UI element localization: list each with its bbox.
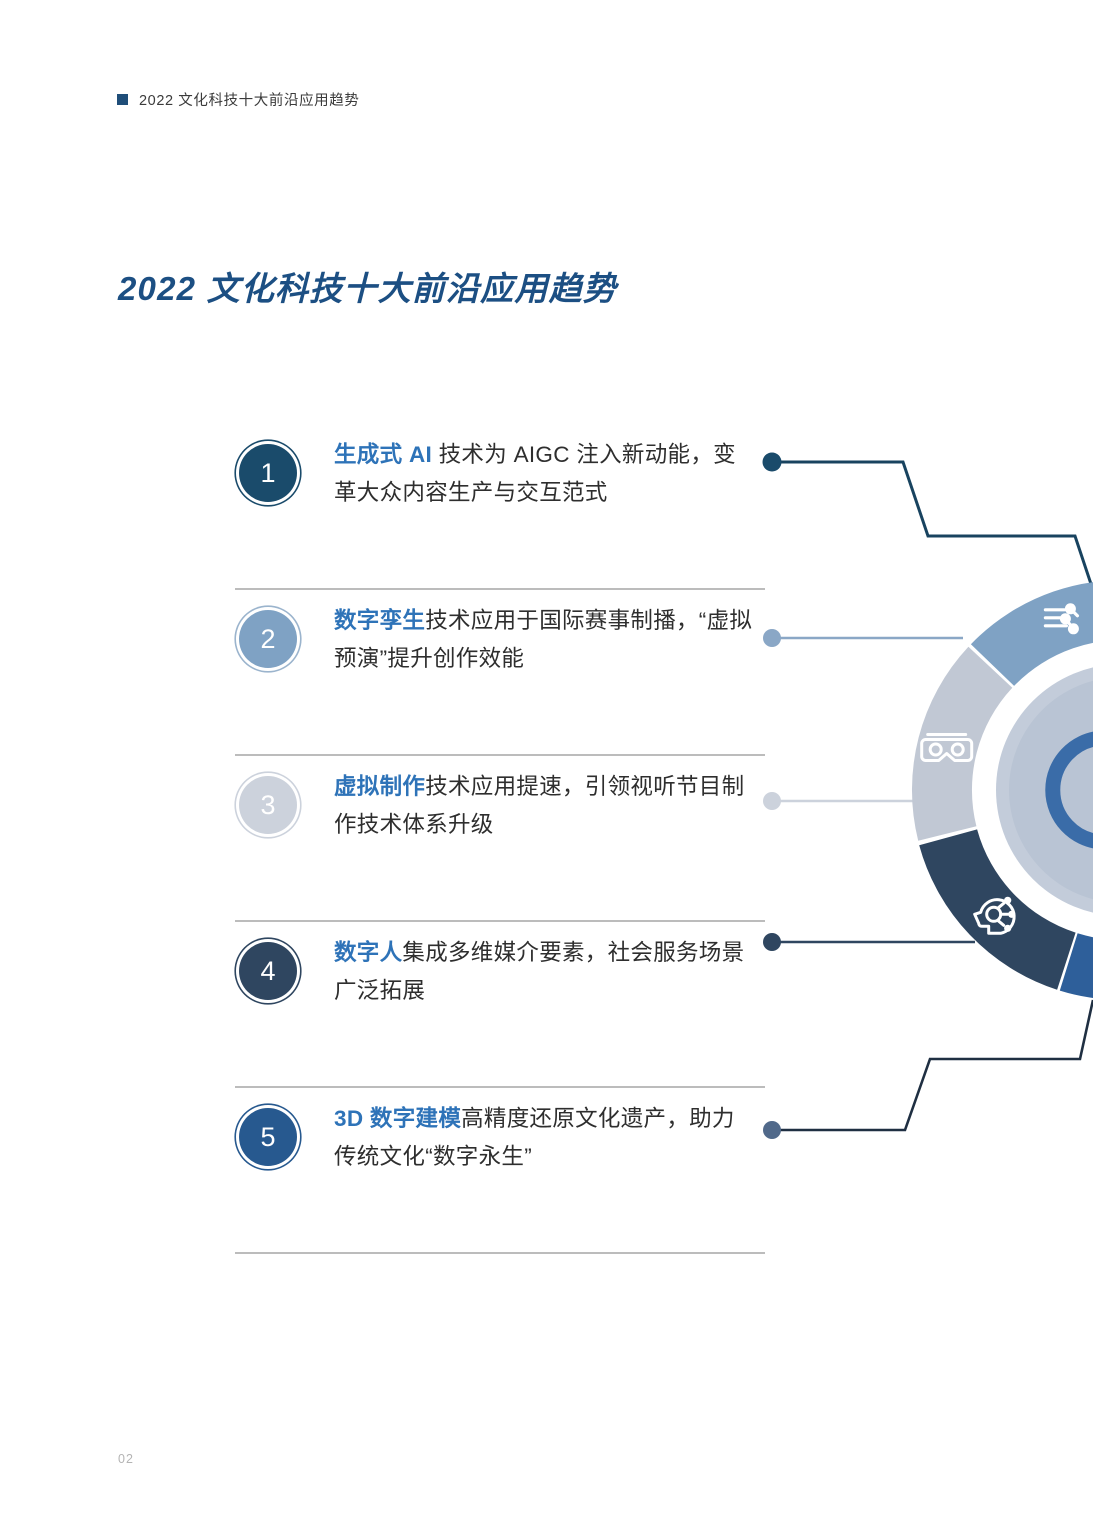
connector-dot-5 xyxy=(763,1121,781,1139)
trend-list: 1 生成式 AI 技术为 AIGC 注入新动能，变革大众内容生产与交互范式 2 … xyxy=(235,424,765,1254)
trend-number-2: 2 xyxy=(260,624,275,655)
trend-text-2: 数字孪生技术应用于国际赛事制播，“虚拟预演”提升创作效能 xyxy=(334,602,754,678)
trend-number-3: 3 xyxy=(260,790,275,821)
trend-item-5[interactable]: 5 3D 数字建模高精度还原文化遗产，助力传统文化“数字永生” xyxy=(235,1088,765,1254)
trend-badge-4: 4 xyxy=(239,942,297,1000)
page-number: 02 xyxy=(118,1452,134,1466)
document-page: 2022 文化科技十大前沿应用趋势 2022 文化科技十大前沿应用趋势 xyxy=(0,0,1093,1535)
trend-item-3[interactable]: 3 虚拟制作技术应用提速，引领视听节目制作技术体系升级 xyxy=(235,756,765,922)
trend-badge-2: 2 xyxy=(239,610,297,668)
trend-item-2[interactable]: 2 数字孪生技术应用于国际赛事制播，“虚拟预演”提升创作效能 xyxy=(235,590,765,756)
trend-item-4[interactable]: 4 数字人集成多维媒介要素，社会服务场景广泛拓展 xyxy=(235,922,765,1088)
trend-text-4: 数字人集成多维媒介要素，社会服务场景广泛拓展 xyxy=(334,934,754,1010)
trend-divider-5 xyxy=(235,1252,765,1254)
trend-keyword-5: 3D 数字建模 xyxy=(334,1106,461,1131)
connector-dot-4 xyxy=(763,933,781,951)
trend-keyword-2: 数字孪生 xyxy=(334,608,425,633)
trend-item-1[interactable]: 1 生成式 AI 技术为 AIGC 注入新动能，变革大众内容生产与交互范式 xyxy=(235,424,765,590)
trend-badge-5: 5 xyxy=(239,1108,297,1166)
trend-badge-1: 1 xyxy=(239,444,297,502)
connector-dot-2 xyxy=(763,629,781,647)
trend-number-1: 1 xyxy=(260,458,275,489)
trend-keyword-1: 生成式 AI xyxy=(334,442,432,467)
trend-badge-3: 3 xyxy=(239,776,297,834)
trend-keyword-3: 虚拟制作 xyxy=(334,774,425,799)
trend-text-1: 生成式 AI 技术为 AIGC 注入新动能，变革大众内容生产与交互范式 xyxy=(334,436,754,512)
connector-dot-1 xyxy=(763,453,782,472)
trend-number-5: 5 xyxy=(260,1122,275,1153)
connector-dot-3 xyxy=(763,792,781,810)
trend-text-5: 3D 数字建模高精度还原文化遗产，助力传统文化“数字永生” xyxy=(334,1100,754,1176)
trend-number-4: 4 xyxy=(260,956,275,987)
trend-text-3: 虚拟制作技术应用提速，引领视听节目制作技术体系升级 xyxy=(334,768,754,844)
trend-keyword-4: 数字人 xyxy=(334,940,402,965)
